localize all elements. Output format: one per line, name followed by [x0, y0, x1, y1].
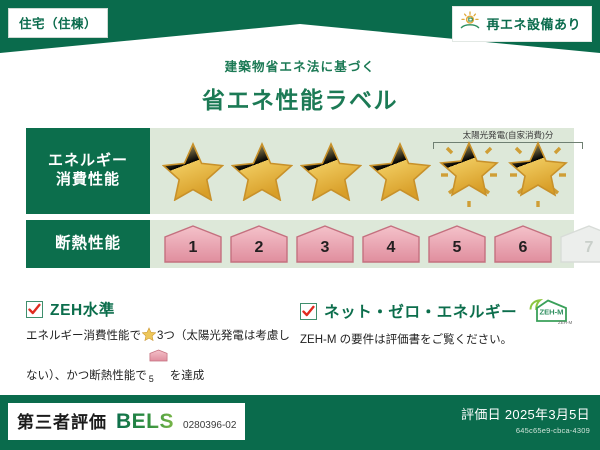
inline-grade-badge: 5 — [149, 348, 168, 363]
net-zero-description: ZEH-M の要件は評価書をご覧ください。 — [300, 331, 574, 350]
page-title: 省エネ性能ラベル — [0, 81, 600, 115]
zeh-standard-heading: ZEH水準 — [50, 298, 115, 320]
zeh-m-logo: ZEH-M ZEH-M — [526, 298, 570, 324]
energy-consumption-row: エネルギー 消費性能 太陽光発電(自家消費)分 — [26, 128, 574, 214]
footer: 第三者評価 BELS 0280396-02 評価日 2025年3月5日 645c… — [0, 395, 600, 450]
evaluation-date: 評価日 2025年3月5日 — [461, 404, 590, 423]
star-filled-solar — [503, 134, 572, 208]
criteria-section: ZEH水準 エネルギー消費性能で3つ（太陽光発電は考慮しない）、かつ断熱性能で5… — [26, 298, 574, 386]
grade-value: 3 — [294, 224, 356, 264]
insulation-grade-badge: 4 — [360, 224, 422, 264]
certificate-id: 0280396-02 — [183, 420, 236, 431]
zeh-standard-block: ZEH水準 エネルギー消費性能で3つ（太陽光発電は考慮しない）、かつ断熱性能で5… — [26, 298, 300, 386]
net-zero-heading: ネット・ゼロ・エネルギー — [324, 300, 517, 322]
checkbox-checked[interactable] — [26, 301, 43, 318]
star-icon — [142, 327, 156, 348]
energy-consumption-label: エネルギー 消費性能 — [26, 128, 150, 214]
grade-value: 2 — [228, 224, 290, 264]
insulation-grade-badge: 3 — [294, 224, 356, 264]
star-filled — [296, 134, 365, 208]
label-subtitle: 建築物省エネ法に基づく — [0, 56, 600, 75]
grade-value: 6 — [492, 224, 554, 264]
net-zero-energy-block: ネット・ゼロ・エネルギー ZEH-M ZEH-M ZEH-M の要件は評価書をご… — [300, 298, 574, 386]
insulation-grade-scale: 1 2 3 — [150, 220, 574, 268]
bels-logo: BELS — [116, 410, 174, 434]
grade-value: 7 — [558, 224, 600, 264]
zeh-standard-description: エネルギー消費性能で3つ（太陽光発電は考慮しない）、かつ断熱性能で5を達成 — [26, 327, 300, 386]
checkbox-checked[interactable] — [300, 303, 317, 320]
insulation-grade-badge: 1 — [162, 224, 224, 264]
grade-value: 1 — [162, 224, 224, 264]
grade-value: 5 — [149, 371, 154, 384]
third-party-label: 第三者評価 — [17, 408, 107, 433]
insulation-performance-row: 断熱性能 1 — [26, 220, 574, 268]
star-filled-solar — [434, 134, 503, 208]
energy-consumption-body: 太陽光発電(自家消費)分 — [150, 128, 574, 214]
bels-certification: 第三者評価 BELS 0280396-02 — [8, 403, 245, 440]
house-type-tag: 住宅（住棟） — [8, 8, 108, 38]
zeh-standard-heading-row: ZEH水準 — [26, 298, 300, 320]
sun-icon — [459, 11, 481, 36]
star-filled — [227, 134, 296, 208]
star-rating — [150, 128, 574, 214]
zeh-m-logo-caption: ZEH-M — [558, 320, 572, 325]
insulation-grade-badge-inactive: 7 — [558, 224, 600, 264]
title-block: 建築物省エネ法に基づく 省エネ性能ラベル — [0, 56, 600, 115]
star-filled — [158, 134, 227, 208]
energy-performance-label: 住宅（住棟） 再エネ設備あり 建築物省エネ法に基づく 省エネ性能ラベル — [0, 0, 600, 450]
grade-value: 5 — [426, 224, 488, 264]
document-hash: 645c65e9-cbca-4309 — [461, 426, 590, 435]
renewable-badge-label: 再エネ設備あり — [486, 14, 581, 33]
insulation-grade-badge: 6 — [492, 224, 554, 264]
net-zero-heading-row: ネット・ゼロ・エネルギー ZEH-M ZEH-M — [300, 298, 574, 324]
grade-value: 4 — [360, 224, 422, 264]
insulation-grade-badge: 2 — [228, 224, 290, 264]
evaluation-date-block: 評価日 2025年3月5日 645c65e9-cbca-4309 — [461, 404, 590, 435]
ratings-section: エネルギー 消費性能 太陽光発電(自家消費)分 — [26, 128, 574, 268]
svg-text:ZEH-M: ZEH-M — [540, 308, 564, 317]
renewable-equipment-badge: 再エネ設備あり — [452, 6, 592, 42]
star-filled — [365, 134, 434, 208]
insulation-grade-badge: 5 — [426, 224, 488, 264]
insulation-performance-body: 1 2 3 — [150, 220, 574, 268]
insulation-performance-label: 断熱性能 — [26, 220, 150, 268]
